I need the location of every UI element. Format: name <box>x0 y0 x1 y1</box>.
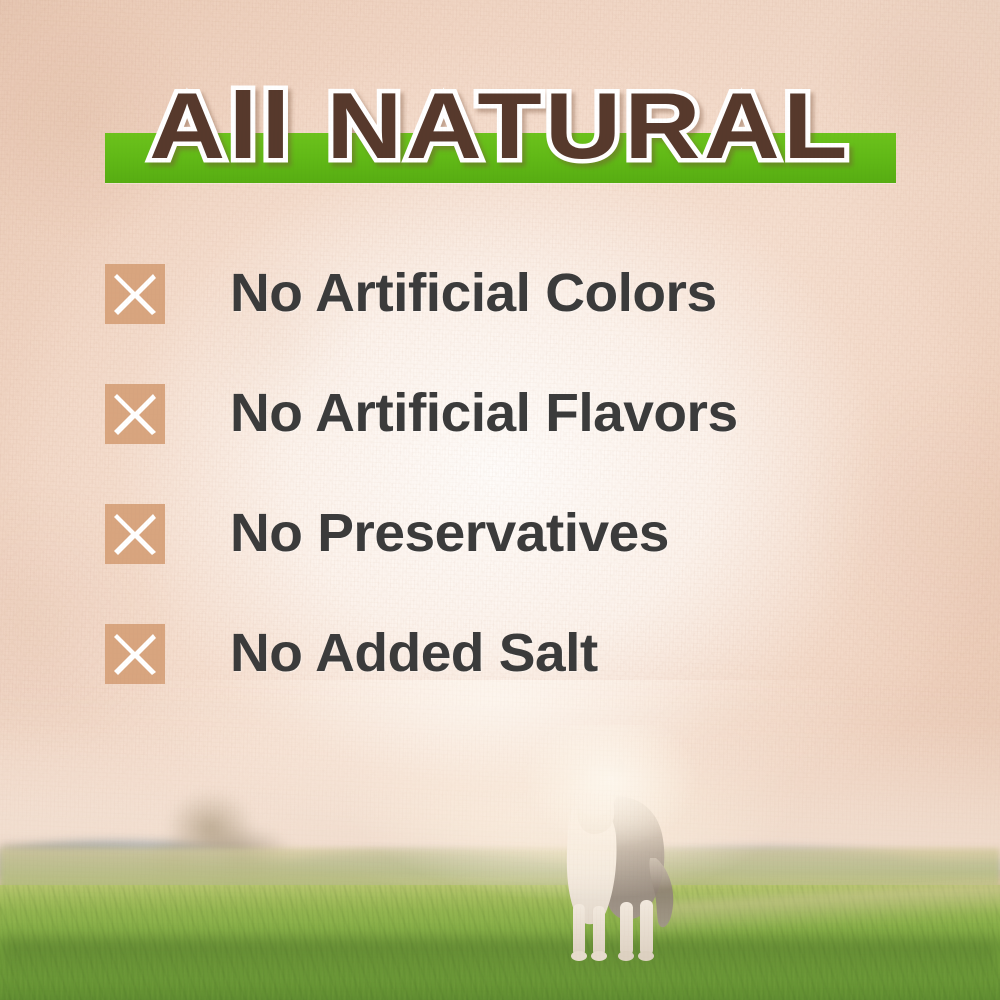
claims-list: No Artificial Colors No Artificial Flavo… <box>0 250 1000 730</box>
x-mark-icon <box>105 504 165 564</box>
claim-label: No Preservatives <box>230 496 669 570</box>
claim-label: No Artificial Flavors <box>230 376 738 450</box>
product-feature-poster: All NATURAL No Artificial Colors No Arti… <box>0 0 1000 1000</box>
x-mark-icon <box>105 384 165 444</box>
x-mark-icon <box>105 624 165 684</box>
claim-label: No Artificial Colors <box>230 256 717 330</box>
photo-sun-glow <box>260 680 880 970</box>
claim-label: No Added Salt <box>230 616 598 690</box>
headline-text: All NATURAL <box>0 74 1000 178</box>
headline-banner: All NATURAL <box>0 74 1000 196</box>
claim-row: No Artificial Colors <box>0 250 1000 370</box>
claim-row: No Artificial Flavors <box>0 370 1000 490</box>
x-mark-icon <box>105 264 165 324</box>
claim-row: No Preservatives <box>0 490 1000 610</box>
landscape-photo <box>0 680 1000 1000</box>
